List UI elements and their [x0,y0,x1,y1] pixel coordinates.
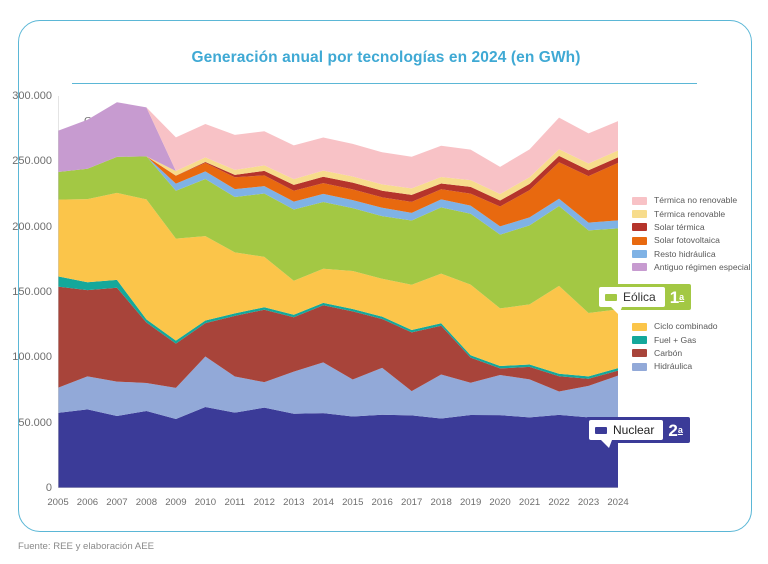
legend-lower-label: Fuel + Gas [654,336,696,345]
legend-swatch-icon [632,263,647,271]
area-series-nuclear [58,407,618,488]
callout-nuclear-rank-number: 2 [668,422,677,439]
legend-swatch-icon [632,250,647,258]
chart-plot-area: 050.000100.000150.000200.000250.000300.0… [58,96,618,488]
callout-nuclear[interactable]: Nuclear 2a [586,417,690,443]
callout-nuclear-bubble: Nuclear [589,420,663,440]
x-axis-tick-label: 2020 [489,497,510,508]
legend-lower-item[interactable]: Carbón [632,347,718,360]
legend-swatch-icon [632,237,647,245]
screenshot-root: Generación anual por tecnologías en 2024… [0,0,768,564]
legend-lower-item[interactable]: Fuel + Gas [632,333,718,346]
x-axis-tick-label: 2024 [607,497,628,508]
callout-nuclear-label: Nuclear [613,424,654,436]
legend-upper-label: Térmica renovable [654,210,725,219]
callout-eolica-rank-suffix: a [679,293,684,302]
legend-lower-label: Ciclo combinado [654,322,718,331]
legend-upper-item[interactable]: Solar fotovoltaica [632,234,751,247]
source-note: Fuente: REE y elaboración AEE [18,541,154,552]
callout-eolica[interactable]: Eólica 1a [596,284,691,310]
x-axis-tick-label: 2009 [165,497,186,508]
x-axis-tick-label: 2019 [460,497,481,508]
x-axis-tick-label: 2015 [342,497,363,508]
legend-lower-label: Carbón [654,349,682,358]
x-axis-tick-label: 2006 [77,497,98,508]
legend-upper-item[interactable]: Térmica no renovable [632,194,751,207]
legend-upper-item[interactable]: Resto hidráulica [632,247,751,260]
page-title: Generación anual por tecnologías en 2024… [19,49,753,67]
x-axis-tick-label: 2016 [372,497,393,508]
legend-upper-item[interactable]: Antiguo régimen especial [632,260,751,273]
legend-lower-label: Hidráulica [654,362,692,371]
legend-lower-item[interactable]: Ciclo combinado [632,320,718,333]
legend-upper: Térmica no renovableTérmica renovableSol… [632,194,751,274]
y-axis-tick-label: 300.000 [0,90,58,102]
callout-nuclear-rank-suffix: a [678,426,683,435]
x-axis-tick-label: 2017 [401,497,422,508]
x-axis-tick-label: 2021 [519,497,540,508]
legend-swatch-icon [632,349,647,357]
y-axis-tick-label: 200.000 [0,221,58,233]
y-axis-tick-label: 0 [0,482,58,494]
x-axis-tick-label: 2023 [578,497,599,508]
callout-eolica-swatch [605,294,617,301]
x-axis-tick-label: 2014 [313,497,334,508]
y-axis-tick-label: 250.000 [0,155,58,167]
legend-upper-item[interactable]: Térmica renovable [632,207,751,220]
y-axis-tick-label: 150.000 [0,286,58,298]
y-axis-tick-label: 100.000 [0,351,58,363]
callout-eolica-label: Eólica [623,291,656,303]
legend-swatch-icon [632,210,647,218]
legend-upper-label: Resto hidráulica [654,250,716,259]
legend-lower-item[interactable]: Hidráulica [632,360,718,373]
x-axis-tick-label: 2010 [195,497,216,508]
y-axis-tick-label: 50.000 [0,417,58,429]
x-axis-tick-label: 2007 [106,497,127,508]
x-axis-tick-label: 2013 [283,497,304,508]
legend-swatch-icon [632,336,647,344]
legend-swatch-icon [632,323,647,331]
legend-upper-label: Térmica no renovable [654,196,737,205]
callout-eolica-rank: 1a [670,287,687,307]
callout-nuclear-rank: 2a [668,420,685,440]
callout-eolica-rank-number: 1 [670,289,679,306]
x-axis-tick-label: 2022 [548,497,569,508]
x-axis-tick-label: 2011 [225,497,246,508]
stacked-area-chart [58,96,618,488]
callout-eolica-bubble: Eólica [599,287,665,307]
legend-swatch-icon [632,363,647,371]
legend-swatch-icon [632,197,647,205]
x-axis-tick-label: 2018 [430,497,451,508]
legend-lower: Ciclo combinadoFuel + GasCarbónHidráulic… [632,320,718,373]
x-axis-tick-label: 2005 [47,497,68,508]
callout-nuclear-swatch [595,427,607,434]
legend-swatch-icon [632,223,647,231]
x-axis-tick-label: 2008 [136,497,157,508]
title-divider [72,83,697,84]
legend-upper-item[interactable]: Solar térmica [632,221,751,234]
legend-upper-label: Solar térmica [654,223,705,232]
legend-upper-label: Antiguo régimen especial [654,263,751,272]
x-axis-tick-label: 2012 [254,497,275,508]
legend-upper-label: Solar fotovoltaica [654,236,720,245]
